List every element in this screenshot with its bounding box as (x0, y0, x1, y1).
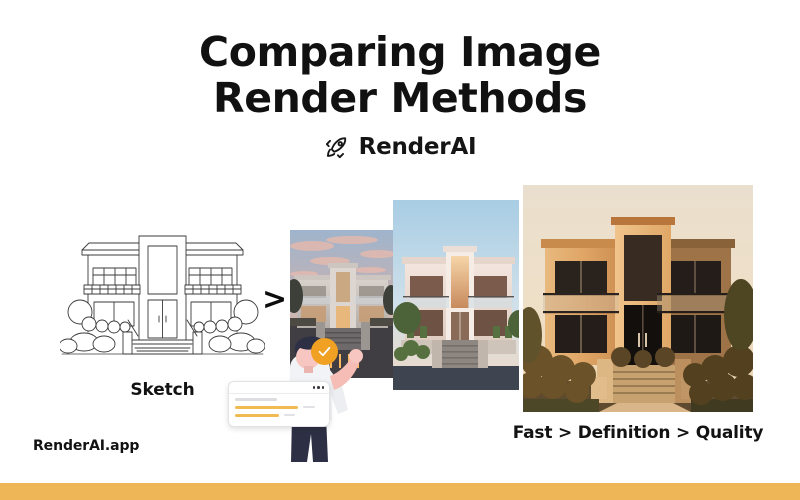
card-progress-row-1 (235, 406, 323, 409)
slide-canvas: Comparing Image Render Methods RenderAI (0, 0, 800, 500)
sketch-illustration (60, 228, 265, 368)
render-image-definition[interactable] (393, 200, 524, 390)
card-topbar (229, 382, 329, 394)
brand-row: RenderAI (0, 134, 800, 160)
title-block: Comparing Image Render Methods RenderAI (0, 30, 800, 160)
footer-brand: RenderAI.app (33, 438, 139, 454)
rocket-icon (324, 134, 350, 160)
form-card[interactable] (228, 381, 330, 427)
card-body (229, 394, 329, 417)
card-dot-1 (313, 386, 316, 389)
card-dot-2 (317, 386, 320, 389)
render-caption: Fast > Definition > Quality (500, 423, 776, 443)
card-dot-3 (322, 386, 325, 389)
chevron-right-icon: > (262, 285, 287, 315)
page-title-line-1: Comparing Image (0, 30, 800, 76)
brand-name: RenderAI (359, 134, 477, 160)
card-progress-row-2 (235, 414, 323, 417)
card-progress-bar-1 (235, 406, 298, 409)
card-value-stub-1 (303, 406, 314, 409)
card-placeholder-line (235, 398, 277, 401)
bottom-accent-bar (0, 483, 800, 500)
card-value-stub-2 (284, 414, 295, 417)
card-progress-bar-2 (235, 414, 279, 417)
page-title-line-2: Render Methods (0, 76, 800, 122)
check-badge (311, 338, 338, 365)
render-image-quality[interactable] (523, 185, 753, 412)
